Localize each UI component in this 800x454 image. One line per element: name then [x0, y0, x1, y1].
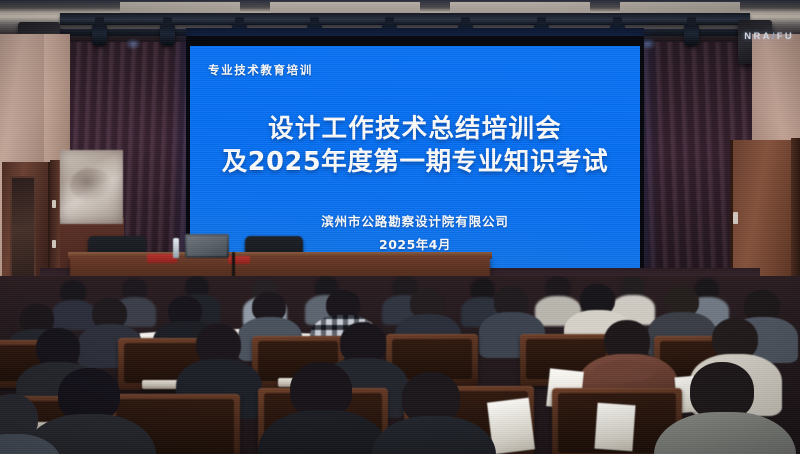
slide-title-line1: 设计工作技术总结培训会	[190, 114, 640, 146]
laptop	[185, 234, 229, 258]
exam-paper	[594, 403, 635, 452]
audience-area	[0, 276, 800, 454]
person-body	[52, 300, 96, 330]
stage-light-icon	[92, 24, 107, 46]
brand-suffix: FU	[777, 31, 794, 42]
slide-kicker-text: 专业技术教育培训	[208, 62, 313, 78]
hoodie-hood	[594, 360, 656, 382]
led-presentation-screen: 专业技术教育培训 设计工作技术总结培训会 及2025年度第一期专业知识考试 滨州…	[190, 46, 640, 268]
screen-brand-logo: NRA/FU	[744, 31, 794, 42]
light-glow	[125, 38, 141, 50]
right-door-handle-icon[interactable]	[733, 212, 738, 224]
slide-organization: 滨州市公路勘察设计院有限公司	[190, 211, 640, 230]
slide-title-block: 设计工作技术总结培训会 及2025年度第一期专业知识考试	[190, 114, 640, 179]
water-bottle	[173, 238, 179, 258]
brand-prefix: NRA	[744, 31, 771, 42]
stage-light-icon	[684, 24, 699, 46]
left-door-handle-icon[interactable]	[52, 200, 56, 208]
left-door-hinge-icon	[52, 240, 56, 248]
conference-hall-photo: NRA/FU 专业技术教育培训 设计工作技术总结培训会 及2025年度第一期专业…	[0, 0, 800, 454]
wall-panel-reflection	[70, 168, 112, 202]
stage-light-icon	[160, 24, 175, 46]
slide-title-line2: 及2025年度第一期专业知识考试	[190, 146, 640, 179]
laptop-screen	[187, 236, 227, 256]
